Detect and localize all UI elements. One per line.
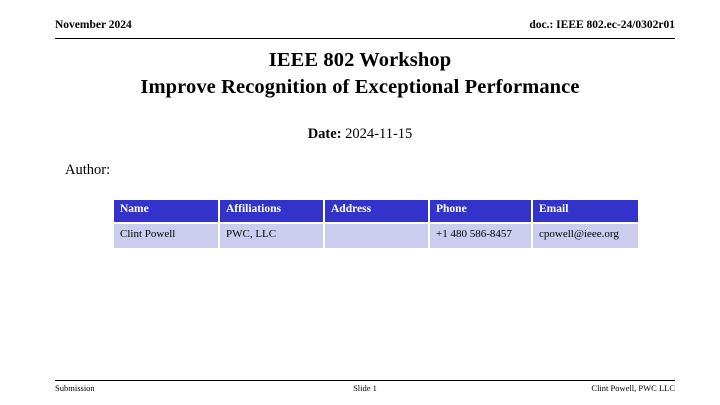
page-title: IEEE 802 Workshop Improve Recognition of…	[60, 47, 660, 101]
author-table-header: Name Affiliations Address Phone Email	[114, 200, 638, 224]
author-label: Author:	[65, 161, 110, 179]
cell-phone: +1 480 586-8457	[430, 224, 533, 248]
slide-footer: Submission Slide 1 Clint Powell, PWC LLC	[55, 380, 675, 394]
date-value: 2024-11-15	[345, 126, 412, 142]
footer-submission-label: Submission	[55, 383, 95, 394]
page-title-line-2: Improve Recognition of Exceptional Perfo…	[60, 74, 660, 101]
table-header-row: Name Affiliations Address Phone Email	[114, 200, 638, 224]
cell-affiliations: PWC, LLC	[220, 224, 325, 248]
column-header-email: Email	[533, 200, 638, 224]
page-title-line-1: IEEE 802 Workshop	[60, 47, 660, 74]
footer-author-affiliation: Clint Powell, PWC LLC	[591, 383, 675, 394]
footer-slide-number: Slide 1	[55, 383, 675, 394]
cell-name: Clint Powell	[114, 224, 220, 248]
cell-address	[325, 224, 430, 248]
author-table-body: Clint Powell PWC, LLC +1 480 586-8457 cp…	[114, 224, 638, 248]
column-header-address: Address	[325, 200, 430, 224]
header-date: November 2024	[55, 18, 132, 32]
cell-email: cpowell@ieee.org	[533, 224, 638, 248]
slide-header: November 2024 doc.: IEEE 802.ec-24/0302r…	[55, 18, 675, 39]
table-row: Clint Powell PWC, LLC +1 480 586-8457 cp…	[114, 224, 638, 248]
column-header-phone: Phone	[430, 200, 533, 224]
date-label: Date:	[308, 126, 342, 142]
column-header-affiliations: Affiliations	[220, 200, 325, 224]
author-table: Name Affiliations Address Phone Email Cl…	[114, 200, 638, 248]
date-line: Date: 2024-11-15	[60, 125, 660, 143]
header-document-number: doc.: IEEE 802.ec-24/0302r01	[529, 18, 675, 32]
slide-page: November 2024 doc.: IEEE 802.ec-24/0302r…	[0, 0, 720, 405]
column-header-name: Name	[114, 200, 220, 224]
